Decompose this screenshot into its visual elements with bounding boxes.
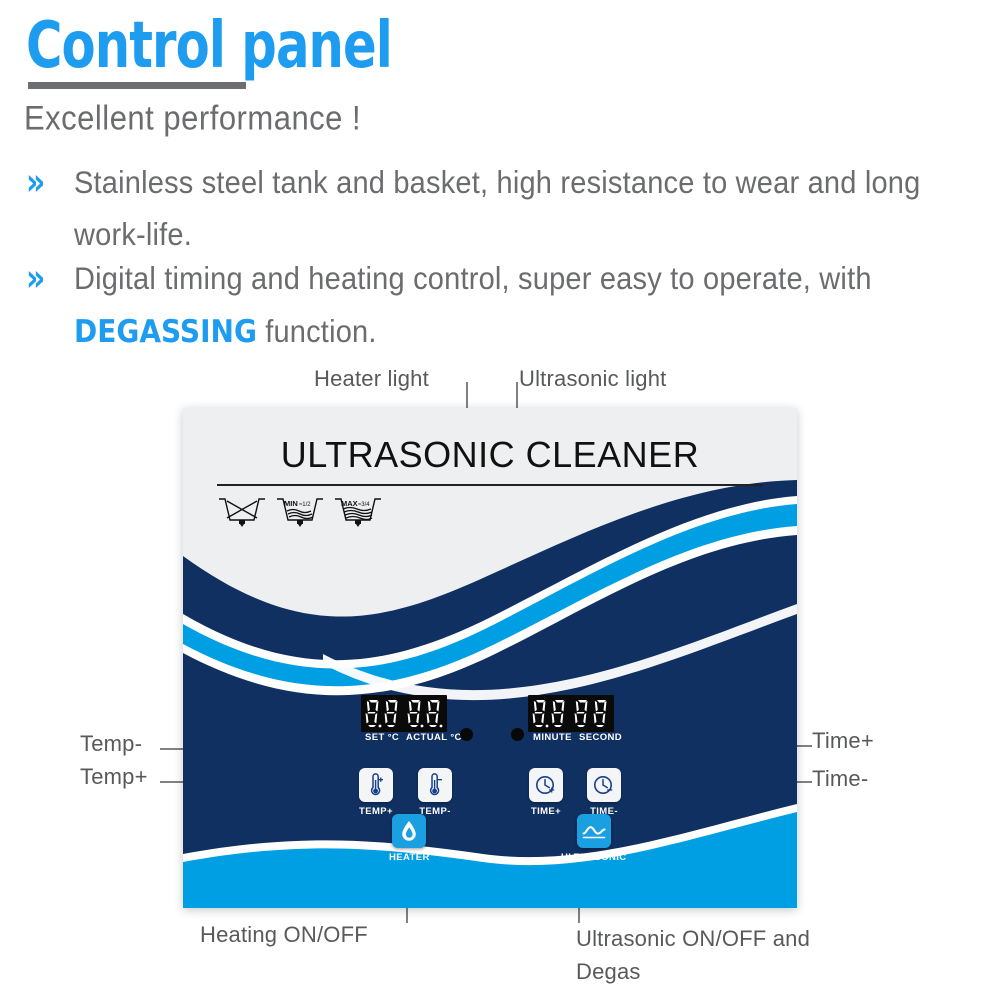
basket-level-icon-group: MIN ≈1/2 MAX ≈3/4 xyxy=(215,494,385,528)
callout-heating-onoff: Heating ON/OFF xyxy=(200,922,368,948)
basket-empty-icon xyxy=(215,494,269,528)
heater-led xyxy=(460,728,473,741)
key-face[interactable] xyxy=(577,814,611,848)
panel-wave-graphic xyxy=(183,408,797,908)
key-caption: HEATER xyxy=(389,852,430,863)
panel-title: ULTRASONIC CLEANER xyxy=(218,434,762,476)
seg-digit xyxy=(384,698,401,729)
degassing-emphasis: DEGASSING xyxy=(74,313,257,349)
heater-button[interactable]: HEATER xyxy=(389,814,430,863)
ultrasonic-button[interactable]: ULTRASONIC xyxy=(561,814,627,863)
temp-plus-button[interactable]: TEMP+ xyxy=(359,768,393,817)
callout-ultrasonic-light: Ultrasonic light xyxy=(519,366,666,392)
seg-digit xyxy=(551,698,568,729)
key-caption: TIME+ xyxy=(531,806,561,817)
key-caption: TEMP+ xyxy=(359,806,393,817)
key-face[interactable] xyxy=(359,768,393,802)
seg-digit xyxy=(532,698,549,729)
header-block: Control panel Excellent performance ! » … xyxy=(0,0,1000,360)
key-face[interactable] xyxy=(392,814,426,848)
subtitle: Excellent performance ! xyxy=(24,98,361,138)
seg-digit xyxy=(593,698,610,729)
callout-time-plus: Time+ xyxy=(812,728,874,754)
callout-temp-minus: Temp- xyxy=(80,731,142,757)
timer-display xyxy=(528,695,614,732)
seg-digit xyxy=(426,698,443,729)
display-separator xyxy=(570,698,572,729)
display-label-minute: MINUTE xyxy=(533,732,572,743)
callout-heater-light: Heater light xyxy=(314,366,429,392)
svg-text:MIN: MIN xyxy=(284,499,298,508)
key-face[interactable] xyxy=(418,768,452,802)
ultrasonic-led xyxy=(511,728,524,741)
clock-plus-icon xyxy=(534,773,558,797)
svg-text:MAX: MAX xyxy=(341,499,358,508)
seg-digit xyxy=(574,698,591,729)
display-label-set: SET °C xyxy=(365,732,399,743)
title-underline-rule xyxy=(28,82,246,89)
seg-digit xyxy=(407,698,424,729)
key-caption: ULTRASONIC xyxy=(561,852,627,863)
feature-bullet: » Digital timing and heating control, su… xyxy=(26,254,976,349)
thermometer-plus-icon xyxy=(365,773,387,797)
basket-max-icon: MAX ≈3/4 xyxy=(331,494,385,528)
double-chevron-icon: » xyxy=(26,158,74,206)
key-face[interactable] xyxy=(587,768,621,802)
panel-title-underline xyxy=(217,484,763,486)
bullet-text-main: Stainless steel tank and basket, high re… xyxy=(74,166,920,253)
feature-bullet-text: Stainless steel tank and basket, high re… xyxy=(74,158,976,261)
callout-time-minus: Time- xyxy=(812,766,868,792)
bullet-text-main: Digital timing and heating control, supe… xyxy=(74,262,872,297)
time-plus-button[interactable]: TIME+ xyxy=(529,768,563,817)
time-minus-button[interactable]: TIME- xyxy=(587,768,621,817)
callout-temp-plus: Temp+ xyxy=(80,764,148,790)
display-separator xyxy=(403,698,405,729)
seg-digit xyxy=(365,698,382,729)
double-chevron-icon: » xyxy=(26,254,74,302)
feature-bullet-text: Digital timing and heating control, supe… xyxy=(74,254,976,359)
svg-text:≈1/2: ≈1/2 xyxy=(299,502,311,508)
feature-bullet: » Stainless steel tank and basket, high … xyxy=(26,158,976,252)
basket-min-icon: MIN ≈1/2 xyxy=(273,494,327,528)
sound-wave-icon xyxy=(581,820,607,842)
control-panel-faceplate: ULTRASONIC CLEANER MIN ≈1/2 MAX ≈3/4 xyxy=(183,408,797,908)
thermometer-minus-icon xyxy=(424,773,446,797)
svg-text:≈3/4: ≈3/4 xyxy=(358,502,370,508)
display-label-actual: ACTUAL °C xyxy=(406,732,462,743)
temp-minus-button[interactable]: TEMP- xyxy=(418,768,452,817)
callout-ultrasonic-onoff: Ultrasonic ON/OFF and Degas xyxy=(576,922,836,988)
display-label-second: SECOND xyxy=(579,732,622,743)
water-drop-flame-icon xyxy=(399,819,419,843)
bullet-text-tail: function. xyxy=(257,315,377,350)
key-face[interactable] xyxy=(529,768,563,802)
temperature-display xyxy=(361,695,447,732)
page-title: Control panel xyxy=(26,8,392,82)
clock-minus-icon xyxy=(592,773,616,797)
